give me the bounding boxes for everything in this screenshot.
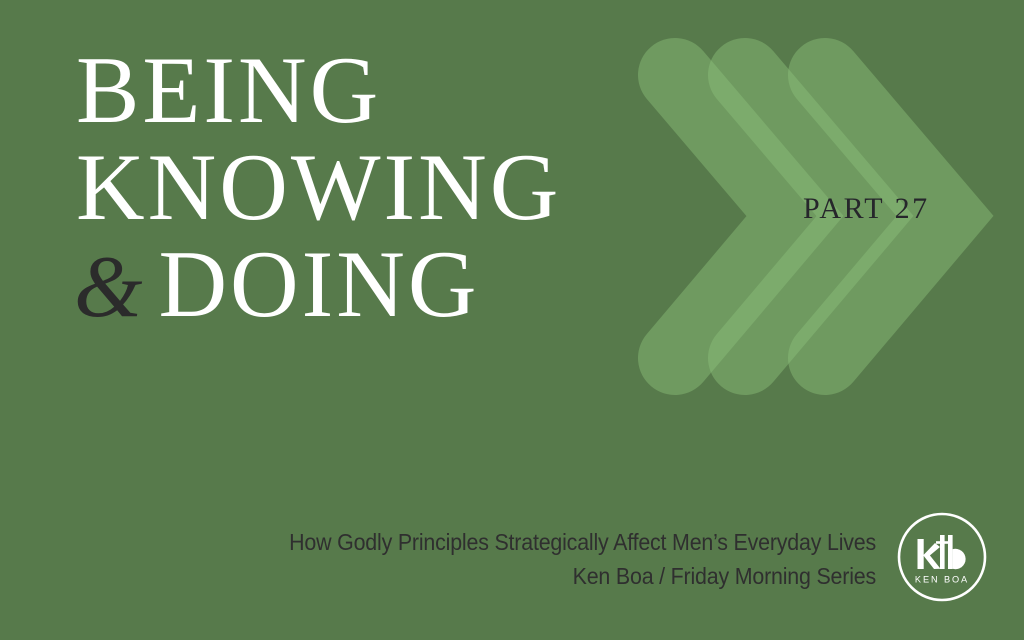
subtitle-block: How Godly Principles Strategically Affec… (216, 525, 876, 593)
subtitle-description: How Godly Principles Strategically Affec… (262, 525, 876, 559)
ken-boa-logo: KEN BOA (896, 511, 988, 603)
part-number-label: PART 27 (803, 192, 930, 226)
subtitle-speaker-series: Ken Boa / Friday Morning Series (262, 559, 876, 593)
title-doing-text: DOING (158, 231, 479, 337)
title-line-being: BEING (74, 42, 694, 139)
title-line-knowing: KNOWING (74, 139, 694, 236)
presentation-slide: BEING KNOWING &DOING PART 27 How Godly P… (0, 0, 1024, 640)
title-line-doing: &DOING (74, 236, 694, 336)
page-title: BEING KNOWING &DOING (74, 42, 694, 336)
ampersand-glyph: & (74, 239, 158, 336)
logo-monogram-kb (918, 535, 966, 569)
logo-wordmark: KEN BOA (915, 575, 969, 585)
